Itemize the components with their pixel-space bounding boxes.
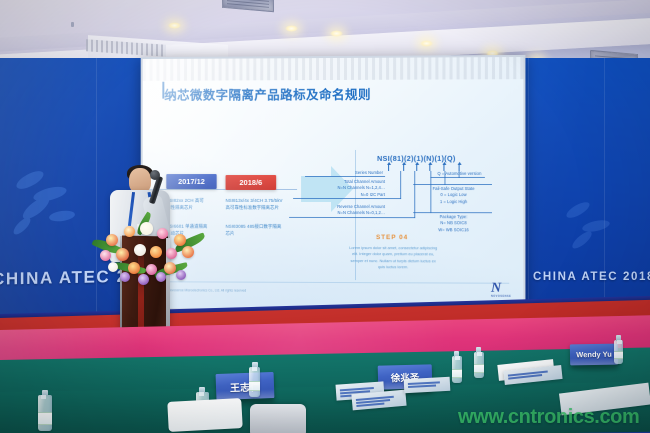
- naming-callout-total-channel: Total Channel Amount N=N Channels N=1,2,…: [293, 179, 385, 198]
- pointer-tick: [388, 164, 389, 171]
- flower: [100, 250, 111, 261]
- screen-reflection: [143, 57, 524, 81]
- flower: [176, 270, 186, 280]
- slide-footer-rule: [156, 281, 509, 283]
- plate-shadow: [570, 365, 620, 371]
- backdrop-text-right: CHINA ATEC 2018: [533, 271, 650, 283]
- wall-seam: [96, 58, 97, 348]
- timeline-note: NSI82xx 2CH 高可 靠性隔离芯片: [166, 198, 221, 211]
- callout-rule: [400, 171, 401, 199]
- microphone-icon: [150, 170, 160, 180]
- flower: [182, 246, 194, 258]
- part-code-pointers: [388, 164, 477, 171]
- slide-title: 纳芯微数字隔离产品路标及命名规则: [164, 84, 371, 104]
- flower: [140, 222, 153, 235]
- sprinkler-head: [71, 22, 74, 27]
- timeline-box-2017-12: 2017/12: [166, 174, 216, 189]
- flower: [120, 272, 130, 282]
- water-bottle: [452, 356, 462, 383]
- novosense-logo: N NOVOSENSE: [491, 281, 511, 298]
- timeline-box-2018-06: 2018/6: [226, 175, 277, 190]
- downlight: [168, 22, 181, 29]
- callout-rule: [430, 171, 431, 213]
- wall-leaf-motif: [556, 186, 626, 266]
- downlight: [420, 40, 433, 47]
- flower: [156, 272, 166, 282]
- timeline-note: NSI813x/4x 3/4CH 3.75/5kV 高可靠性标准数字隔离芯片: [226, 198, 298, 211]
- callout-rule: [413, 184, 492, 185]
- naming-callout-package-type: Package Type: N= NB SOIC8 W= WB SOIC16: [409, 214, 498, 233]
- water-bottle: [249, 367, 260, 397]
- callout-rule: [305, 176, 385, 177]
- naming-callout-reverse-channel: Reverse Channel Amount N=N Channels N=0,…: [289, 204, 385, 217]
- flower: [106, 234, 118, 246]
- water-bottle: [38, 395, 52, 431]
- callout-rule: [413, 212, 492, 213]
- wall-leaf-motif: [6, 150, 92, 246]
- name-plate-text: Wendy Yu: [576, 350, 612, 360]
- chair-back: [250, 404, 306, 433]
- name-plate-wang-zhiren: 王志仁: [216, 372, 275, 400]
- naming-callout-fail-safe: Fail-Safe Output State 0 = Logic Low 1 =…: [409, 186, 498, 205]
- flower: [174, 234, 186, 246]
- flower-arrangement: [94, 212, 204, 282]
- site-watermark: www.cntronics.com: [458, 406, 639, 429]
- flower: [164, 262, 176, 274]
- pointer-tick: [443, 164, 444, 171]
- flower: [124, 226, 135, 237]
- flower: [150, 246, 162, 258]
- pointer-tick: [403, 164, 404, 171]
- flower: [108, 262, 118, 272]
- conference-photo: CHINA ATEC 201 CHINA ATEC 2018 纳芯微数字隔离产品…: [0, 0, 650, 433]
- downlight: [330, 30, 343, 37]
- flower: [138, 274, 149, 285]
- flower: [146, 264, 157, 275]
- callout-rule: [459, 171, 460, 178]
- pointer-tick: [429, 164, 430, 171]
- flower: [134, 244, 146, 256]
- pointer-tick: [416, 164, 417, 171]
- pointer-tick: [459, 164, 460, 171]
- flower: [128, 262, 140, 274]
- flower: [157, 228, 168, 239]
- step-label: STEP 04: [337, 234, 447, 241]
- callout-rule: [444, 171, 445, 185]
- downlight: [285, 25, 298, 32]
- flower: [116, 248, 129, 261]
- step-body-text: Lorem ipsum dolor sit amet, consectetur …: [347, 245, 439, 270]
- logo-subtext: NOVOSENSE: [491, 295, 511, 298]
- document-folder: [404, 377, 451, 393]
- paper-stack: [167, 398, 242, 432]
- water-bottle: [614, 340, 623, 364]
- timeline-note: NSI83085 485接口数字隔离 芯片: [226, 224, 298, 237]
- callout-rule: [293, 198, 401, 199]
- name-plate-wendy-yu: Wendy Yu: [570, 344, 618, 366]
- callout-rule: [289, 217, 415, 218]
- water-bottle: [474, 352, 484, 378]
- logo-mark: N: [491, 281, 501, 296]
- flower: [166, 248, 177, 259]
- air-vent: [222, 0, 274, 12]
